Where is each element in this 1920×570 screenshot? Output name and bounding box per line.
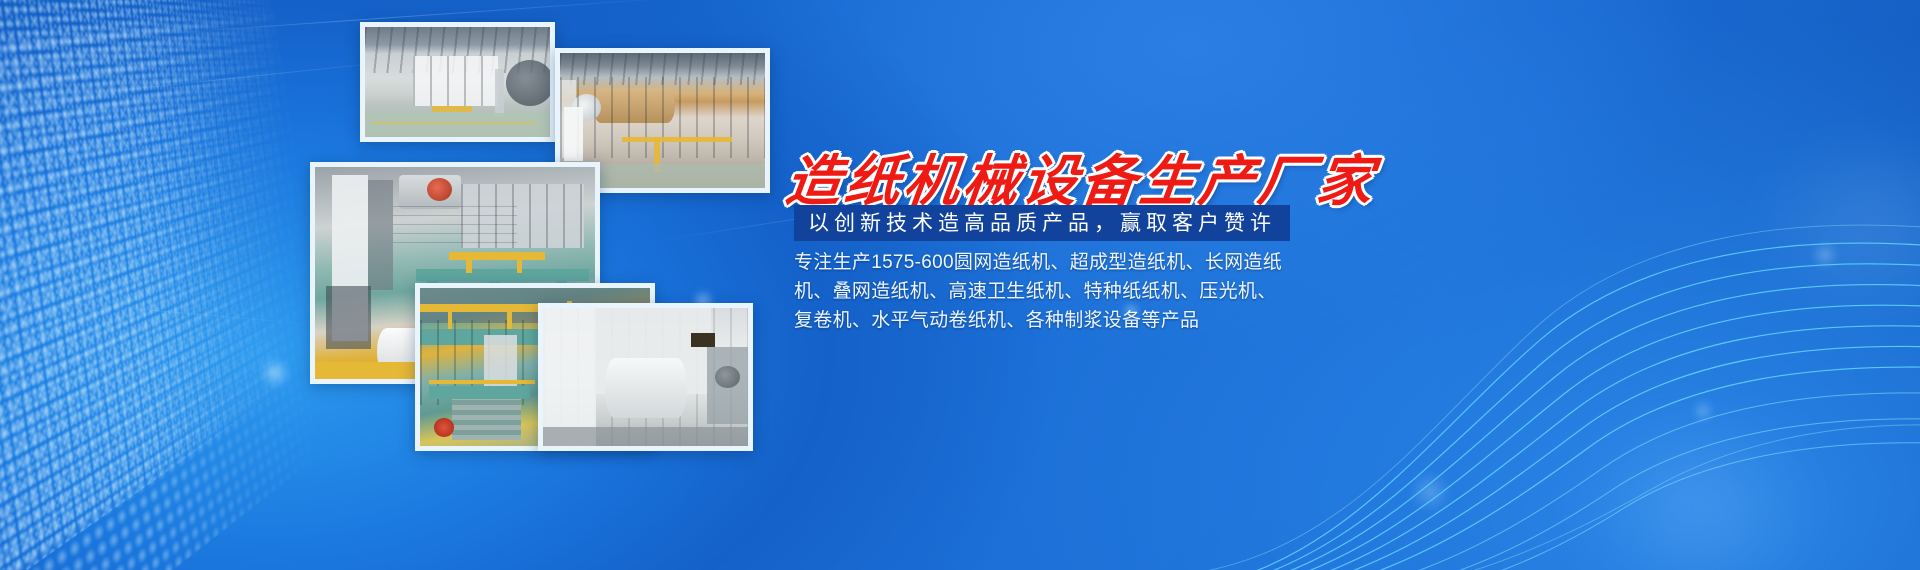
photo-white-room-winder (538, 303, 753, 451)
banner-text-content: 造纸机械设备生产厂家 以创新技术造高品质产品，赢取客户赞许 专注生产1575-6… (787, 0, 1920, 570)
banner-description: 专注生产1575-600圆网造纸机、超成型造纸机、长网造纸机、叠网造纸机、高速卫… (794, 248, 1286, 335)
banner-subtitle: 以创新技术造高品质产品，赢取客户赞许 (808, 213, 1276, 234)
page-title: 造纸机械设备生产厂家 (782, 136, 1382, 216)
hero-banner: 造纸机械设备生产厂家 以创新技术造高品质产品，赢取客户赞许 专注生产1575-6… (0, 0, 1920, 570)
subtitle-bar: 以创新技术造高品质产品，赢取客户赞许 (794, 205, 1290, 241)
photo-factory-hall-overview (360, 22, 555, 142)
